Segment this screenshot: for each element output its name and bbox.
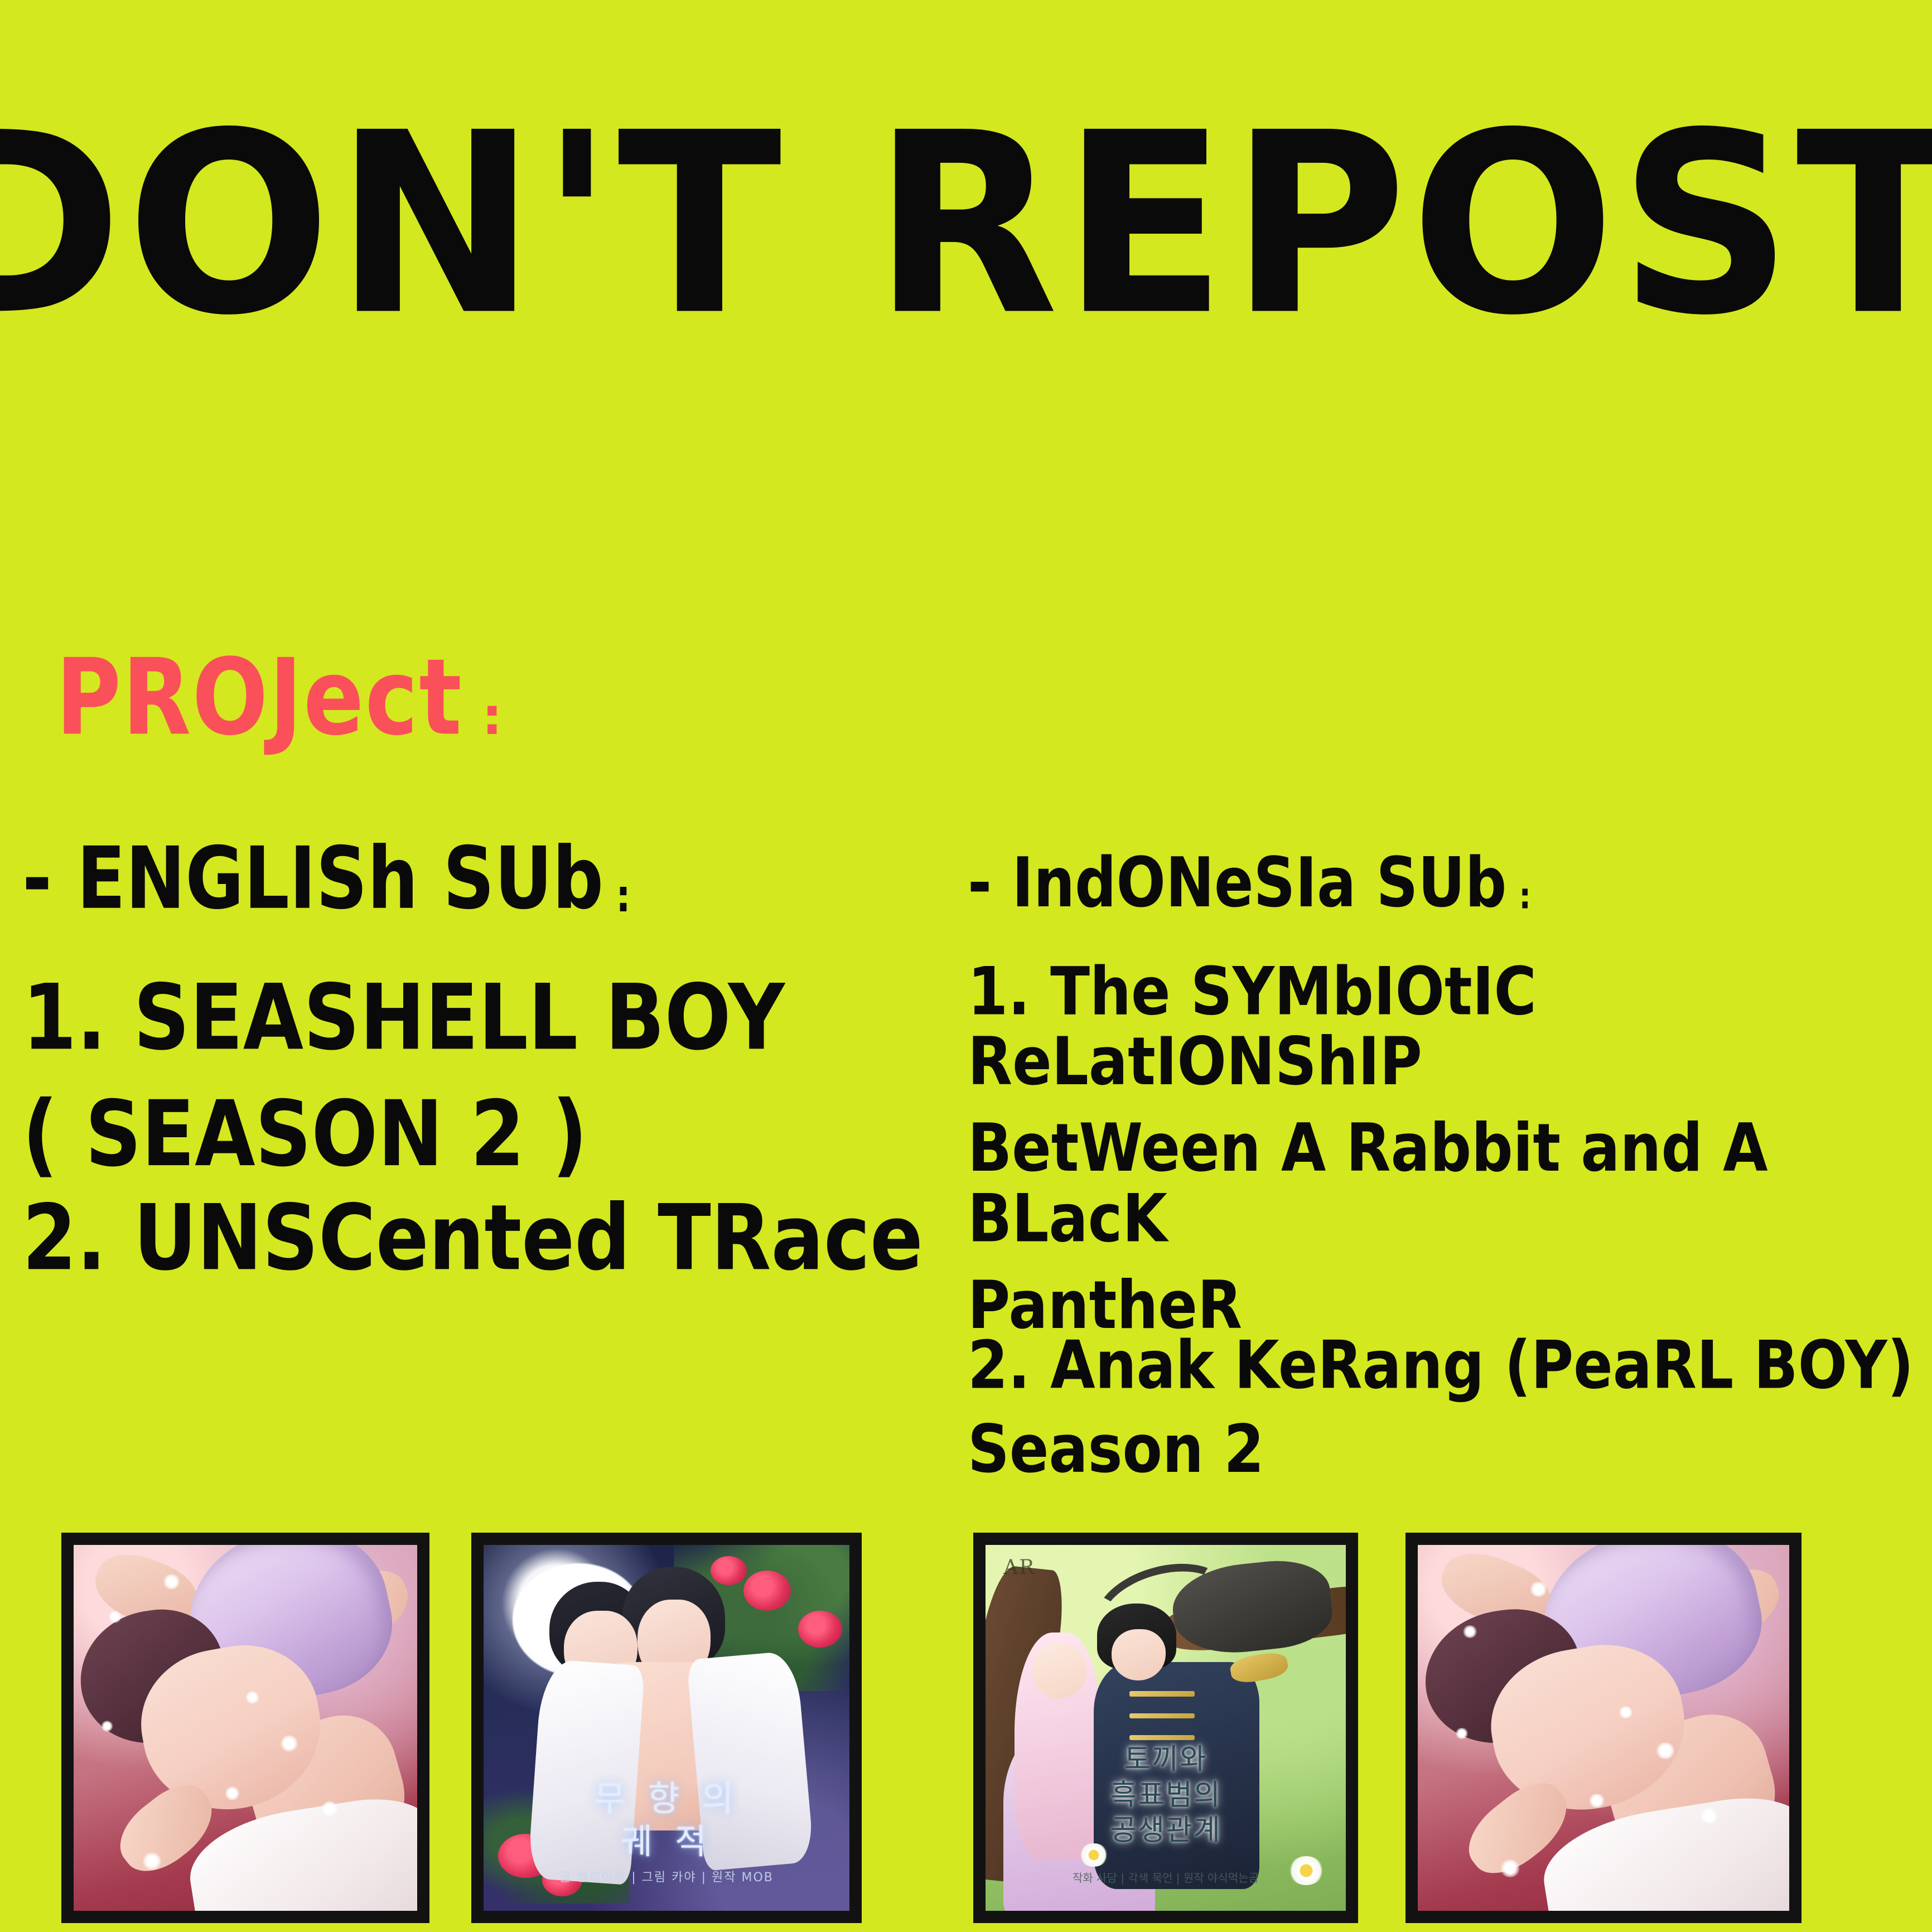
thumbnail-unscented-trace[interactable]: 무 향 의궤 적 글 벨리아케 | 그림 카야 | 원작 MOB [471,1533,862,1923]
sparkle-icon [245,1691,259,1703]
epaulette-shape [1229,1650,1290,1685]
thumbnail-pearl-boy[interactable] [1405,1533,1801,1923]
project-colon: : [482,691,503,742]
thumbnail-seashell-boy[interactable] [61,1533,429,1923]
sparkle-icon [1529,1582,1548,1597]
sparkle-icon [1619,1706,1634,1718]
rose-icon [743,1571,791,1611]
sparkle-icon [280,1735,298,1752]
indonesia-entry-1-line-2: BetWeen A Rabbit and A BLacK [968,1113,1932,1253]
indonesia-sub-heading: - IndONeSIa SUb : [968,848,1927,917]
unscented-trace-korean-title: 무 향 의궤 적 [484,1777,849,1863]
sparkle-icon [1700,1808,1718,1824]
gold-trim-shape [1129,1713,1194,1718]
publisher-logo: AR [1003,1556,1035,1579]
project-label: PROJect [56,645,463,750]
sparkle-icon [225,1786,240,1800]
indonesia-entry-2: 2. Anak KeRang (PeaRL BOY) Season 2 [968,1330,1932,1498]
sparkle-icon [1462,1625,1477,1638]
english-sub-heading: - ENGLISh SUb : [22,836,926,922]
sparkle-icon [1500,1859,1520,1877]
page-title: DON'T REPOST !! [0,100,1932,350]
cover-thumbnail-strip: 무 향 의궤 적 글 벨리아케 | 그림 카야 | 원작 MOB [0,1533,1932,1932]
gold-trim-shape [1129,1735,1194,1740]
pearl-boy-artwork [1418,1545,1789,1911]
sparkle-icon [1455,1728,1469,1739]
rose-icon [711,1556,747,1585]
english-entry-1: 1. SEASHELL BOY ( SEASON 2 ) [22,970,785,1183]
indonesia-entry-1: 1. The SYMbIOtIC ReLatIONShIP BetWeen A … [968,957,1932,1356]
rabbit-panther-credit: 작화 사담 | 각색 묵언 | 원작 야식먹는곰 [986,1869,1346,1885]
sparkle-icon [142,1852,161,1870]
sparkle-icon [101,1721,113,1732]
indonesia-entry-1-line-1: 1. The SYMbIOtIC ReLatIONShIP [968,957,1932,1097]
gold-trim-shape [1129,1691,1194,1696]
english-sub-heading-colon: : [616,874,631,919]
seashell-boy-artwork [74,1545,417,1911]
english-sub-column: - ENGLISh SUb : 1. SEASHELL BOY ( SEASON… [22,851,926,922]
sparkle-icon [1588,1794,1605,1808]
rose-icon [798,1611,842,1648]
face-shape [1032,1644,1086,1698]
sparkle-icon [163,1574,180,1590]
project-label-row: PROJect : [56,661,503,750]
indonesia-sub-heading-text: - IndONeSIa SUb [968,848,1506,917]
english-sub-heading-text: - ENGLISh SUb [22,836,603,922]
thumbnail-rabbit-black-panther[interactable]: AR 토끼와흑표범의공생관계 작화 사담 | 각색 묵언 | 원작 야식먹는곰 [973,1533,1358,1923]
indonesia-entry-2-line-2: Season 2 [968,1414,1932,1485]
rabbit-panther-artwork: AR 토끼와흑표범의공생관계 작화 사담 | 각색 묵언 | 원작 야식먹는곰 [986,1545,1346,1911]
english-entry-1-line-2: ( SEASON 2 ) [22,1087,785,1183]
unscented-trace-artwork: 무 향 의궤 적 글 벨리아케 | 그림 카야 | 원작 MOB [484,1545,849,1911]
indonesia-sub-column: - IndONeSIa SUb : 1. The SYMbIOtIC ReLat… [968,859,1927,917]
indonesia-sub-heading-colon: : [1519,878,1531,914]
face-shape [1112,1629,1166,1680]
poster-canvas: DON'T REPOST !! PROJect : - ENGLISh SUb … [0,0,1932,1932]
english-entry-1-line-1: 1. SEASHELL BOY [22,965,785,1071]
english-entry-2-line-1: 2. UNSCented TRace [22,1186,923,1291]
english-entry-2: 2. UNSCented TRace [22,1191,923,1287]
indonesia-entry-2-line-1: 2. Anak KeRang (PeaRL BOY) [968,1330,1932,1400]
unscented-trace-credit: 글 벨리아케 | 그림 카야 | 원작 MOB [484,1867,849,1885]
sparkle-icon [321,1801,339,1817]
rabbit-panther-korean-title: 토끼와흑표범의공생관계 [1007,1742,1325,1848]
